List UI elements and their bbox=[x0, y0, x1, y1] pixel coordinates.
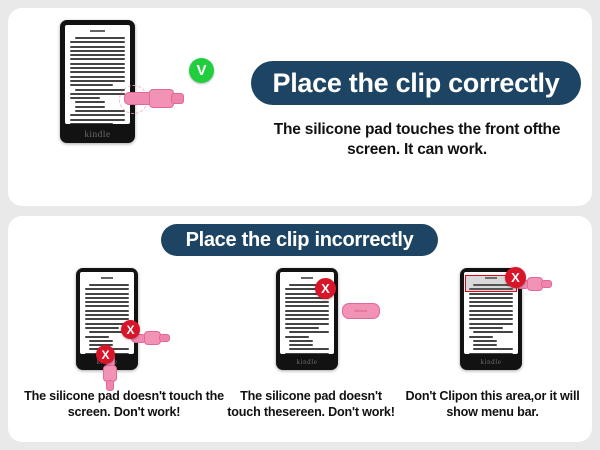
kindle-wordmark: kindle bbox=[84, 129, 110, 139]
bad-badge-glyph: X bbox=[126, 324, 134, 336]
caption-example-3: Don't Clipon this area,or it will show m… bbox=[400, 388, 585, 420]
clip-tail bbox=[171, 93, 184, 104]
x-error-badge-icon-2: X bbox=[315, 278, 336, 299]
ebook-page-text bbox=[80, 272, 134, 354]
clip-tail bbox=[106, 380, 114, 391]
caption-example-1: The silicone pad doesn't touch the scree… bbox=[18, 388, 230, 420]
clip-label: silicone bbox=[343, 309, 379, 313]
banner-place-clip-correctly: Place the clip correctly bbox=[251, 61, 581, 105]
banner-correct-label: Place the clip correctly bbox=[273, 68, 560, 99]
kindle-wordmark: kindle bbox=[480, 358, 501, 366]
silicone-clip-incorrect-2: silicone bbox=[342, 303, 382, 319]
check-ok-badge-icon: V bbox=[189, 58, 214, 83]
banner-place-clip-incorrectly: Place the clip incorrectly bbox=[161, 224, 438, 256]
x-error-badge-icon-1b: X bbox=[96, 345, 115, 364]
x-error-badge-icon-1a: X bbox=[121, 320, 140, 339]
ok-badge-glyph: V bbox=[196, 63, 206, 78]
kindle-chin: kindle bbox=[460, 354, 522, 370]
banner-incorrect-label: Place the clip incorrectly bbox=[186, 229, 414, 252]
correct-usage-card: kindle V Place the clip correctly The si… bbox=[8, 8, 592, 206]
correct-description-text: The silicone pad touches the front ofthe… bbox=[251, 120, 583, 161]
bad-badge-glyph: X bbox=[511, 271, 520, 284]
silicone-clip-correct bbox=[119, 85, 187, 113]
kindle-screen bbox=[80, 272, 134, 354]
x-error-badge-icon-3: X bbox=[505, 267, 526, 288]
kindle-wordmark: kindle bbox=[296, 358, 317, 366]
clip-body: silicone bbox=[342, 303, 380, 319]
kindle-chin: kindle bbox=[60, 124, 135, 143]
kindle-device-correct: kindle bbox=[60, 20, 135, 143]
bad-badge-glyph: X bbox=[101, 349, 109, 361]
bad-badge-glyph: X bbox=[321, 282, 330, 295]
caption-example-2: The silicone pad doesn't touch thesereen… bbox=[222, 388, 400, 420]
kindle-chin: kindle bbox=[276, 354, 338, 370]
clip-tail bbox=[541, 280, 552, 288]
clip-tail bbox=[159, 334, 170, 342]
